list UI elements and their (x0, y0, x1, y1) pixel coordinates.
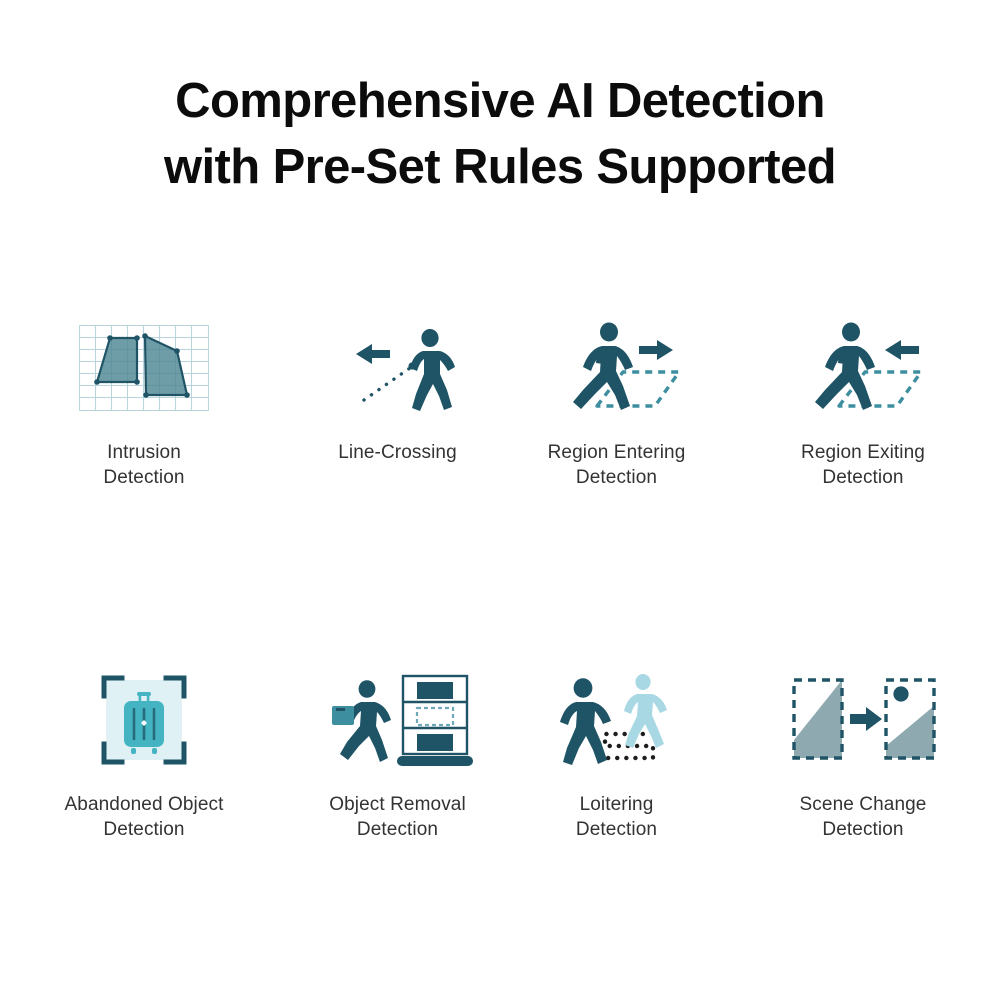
feature-label: Region Entering Detection (548, 440, 686, 490)
page-title-line-2: with Pre-Set Rules Supported (0, 134, 1000, 200)
person-box-shelf-icon (313, 670, 483, 770)
feature-item-intrusion-detection: Intrusion Detection (0, 318, 288, 490)
feature-item-line-crossing: Line-Crossing (288, 318, 507, 490)
feature-row-2: Abandoned Object Detection (0, 670, 1000, 842)
feature-label: Object Removal Detection (329, 792, 466, 842)
person-arrow-right-region-icon (532, 318, 702, 418)
feature-row-1: Intrusion Detection (0, 318, 1000, 490)
feature-label: Region Exiting Detection (801, 440, 925, 490)
two-people-dotted-loop-icon (532, 670, 702, 770)
page-title-line-1: Comprehensive AI Detection (0, 68, 1000, 134)
suitcase-brackets-icon (79, 670, 209, 770)
feature-poster: Comprehensive AI Detection with Pre-Set … (0, 0, 1000, 1000)
feature-label: Line-Crossing (338, 440, 457, 465)
feature-grid: Intrusion Detection (0, 318, 1000, 842)
feature-label: Loitering Detection (576, 792, 657, 842)
page-title: Comprehensive AI Detection with Pre-Set … (0, 68, 1000, 200)
feature-label: Intrusion Detection (103, 440, 184, 490)
grid-polygons-icon (59, 318, 229, 418)
feature-item-object-removal-detection: Object Removal Detection (288, 670, 507, 842)
two-frames-arrow-icon (778, 670, 948, 770)
feature-item-region-exiting-detection: Region Exiting Detection (726, 318, 1000, 490)
person-arrow-left-region-icon (778, 318, 948, 418)
feature-label: Abandoned Object Detection (65, 792, 224, 842)
feature-label: Scene Change Detection (800, 792, 927, 842)
person-arrow-left-dotted-line-icon (313, 318, 483, 418)
feature-item-loitering-detection: Loitering Detection (507, 670, 726, 842)
feature-item-region-entering-detection: Region Entering Detection (507, 318, 726, 490)
feature-item-scene-change-detection: Scene Change Detection (726, 670, 1000, 842)
feature-item-abandoned-object-detection: Abandoned Object Detection (0, 670, 288, 842)
